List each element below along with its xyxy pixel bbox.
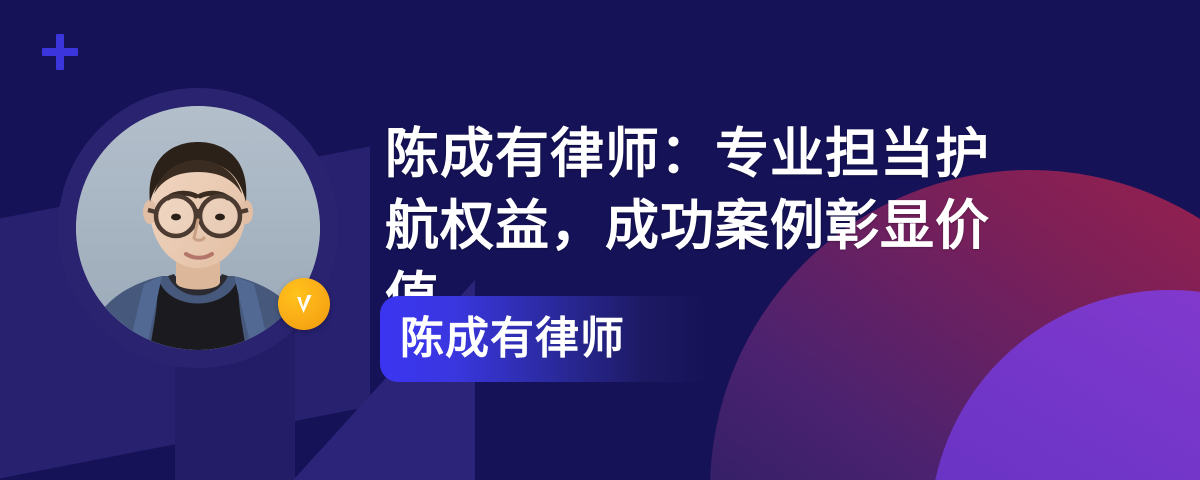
plus-icon: [42, 34, 78, 70]
verified-check-icon: [278, 278, 330, 330]
lawyer-profile-banner: 陈成有律师：专业担当护航权益，成功案例彰显价值 陈成有律师: [0, 0, 1200, 480]
lawyer-name-pill[interactable]: 陈成有律师: [380, 296, 710, 382]
avatar[interactable]: [58, 88, 338, 368]
lawyer-name-label: 陈成有律师: [400, 317, 625, 361]
